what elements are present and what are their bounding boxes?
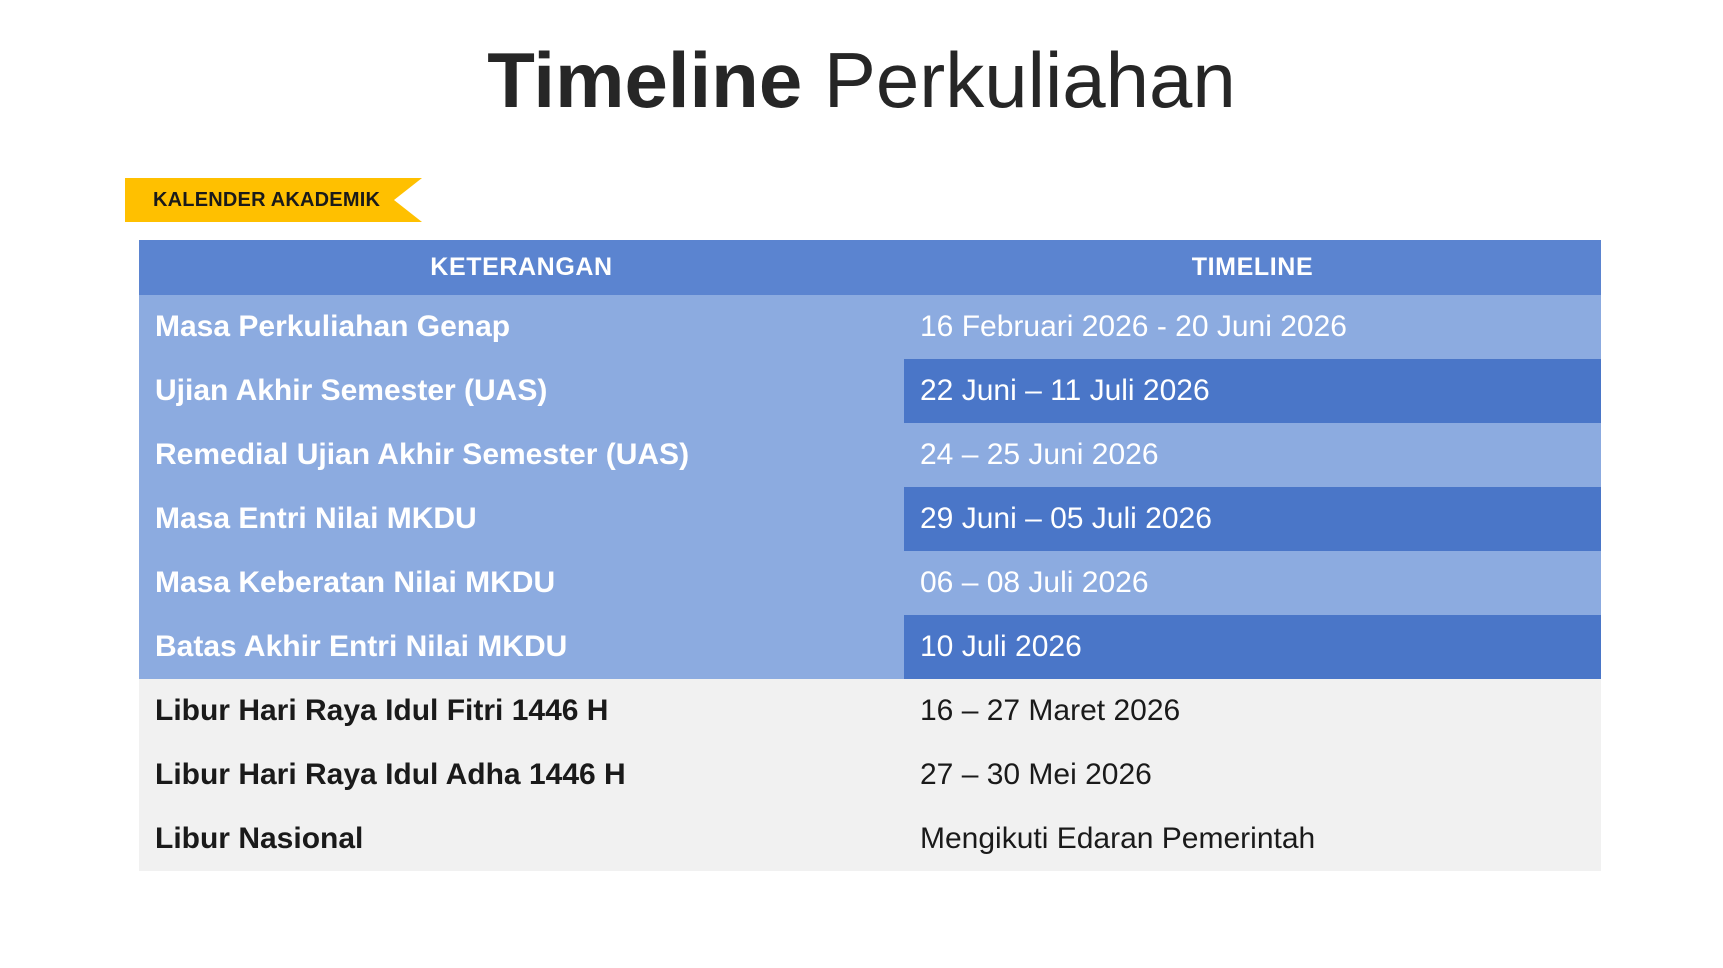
row-timeline: 22 Juni – 11 Juli 2026 — [904, 359, 1601, 423]
row-keterangan: Masa Perkuliahan Genap — [139, 295, 904, 359]
page-title-bold: Timeline — [487, 36, 802, 124]
row-timeline: 10 Juli 2026 — [904, 615, 1601, 679]
row-keterangan: Ujian Akhir Semester (UAS) — [139, 359, 904, 423]
row-timeline: 27 – 30 Mei 2026 — [904, 743, 1601, 807]
kalender-akademik-ribbon: KALENDER AKADEMIK — [125, 178, 422, 222]
row-keterangan: Libur Hari Raya Idul Fitri 1446 H — [139, 679, 904, 743]
table-row: Ujian Akhir Semester (UAS) 22 Juni – 11 … — [139, 359, 1601, 423]
row-timeline: Mengikuti Edaran Pemerintah — [904, 807, 1601, 871]
ribbon-arrow-icon — [394, 178, 422, 222]
row-keterangan: Masa Entri Nilai MKDU — [139, 487, 904, 551]
academic-calendar-table: KETERANGAN TIMELINE Masa Perkuliahan Gen… — [139, 240, 1601, 871]
page-title: Timeline Perkuliahan — [0, 32, 1723, 128]
row-keterangan: Masa Keberatan Nilai MKDU — [139, 551, 904, 615]
row-timeline: 16 Februari 2026 - 20 Juni 2026 — [904, 295, 1601, 359]
table-row: Masa Entri Nilai MKDU 29 Juni – 05 Juli … — [139, 487, 1601, 551]
table-header-row: KETERANGAN TIMELINE — [139, 240, 1601, 295]
table-row: Masa Keberatan Nilai MKDU 06 – 08 Juli 2… — [139, 551, 1601, 615]
table-row: Libur Nasional Mengikuti Edaran Pemerint… — [139, 807, 1601, 871]
row-timeline: 29 Juni – 05 Juli 2026 — [904, 487, 1601, 551]
row-keterangan: Batas Akhir Entri Nilai MKDU — [139, 615, 904, 679]
table-row: Batas Akhir Entri Nilai MKDU 10 Juli 202… — [139, 615, 1601, 679]
table-row: Masa Perkuliahan Genap 16 Februari 2026 … — [139, 295, 1601, 359]
header-keterangan: KETERANGAN — [139, 240, 904, 295]
row-timeline: 24 – 25 Juni 2026 — [904, 423, 1601, 487]
row-keterangan: Remedial Ujian Akhir Semester (UAS) — [139, 423, 904, 487]
page-title-regular: Perkuliahan — [802, 36, 1236, 124]
ribbon-tail — [125, 178, 147, 222]
table-row: Remedial Ujian Akhir Semester (UAS) 24 –… — [139, 423, 1601, 487]
row-timeline: 06 – 08 Juli 2026 — [904, 551, 1601, 615]
ribbon-label: KALENDER AKADEMIK — [147, 178, 394, 222]
row-keterangan: Libur Nasional — [139, 807, 904, 871]
header-timeline: TIMELINE — [904, 240, 1601, 295]
table-row: Libur Hari Raya Idul Adha 1446 H 27 – 30… — [139, 743, 1601, 807]
row-keterangan: Libur Hari Raya Idul Adha 1446 H — [139, 743, 904, 807]
table-row: Libur Hari Raya Idul Fitri 1446 H 16 – 2… — [139, 679, 1601, 743]
row-timeline: 16 – 27 Maret 2026 — [904, 679, 1601, 743]
